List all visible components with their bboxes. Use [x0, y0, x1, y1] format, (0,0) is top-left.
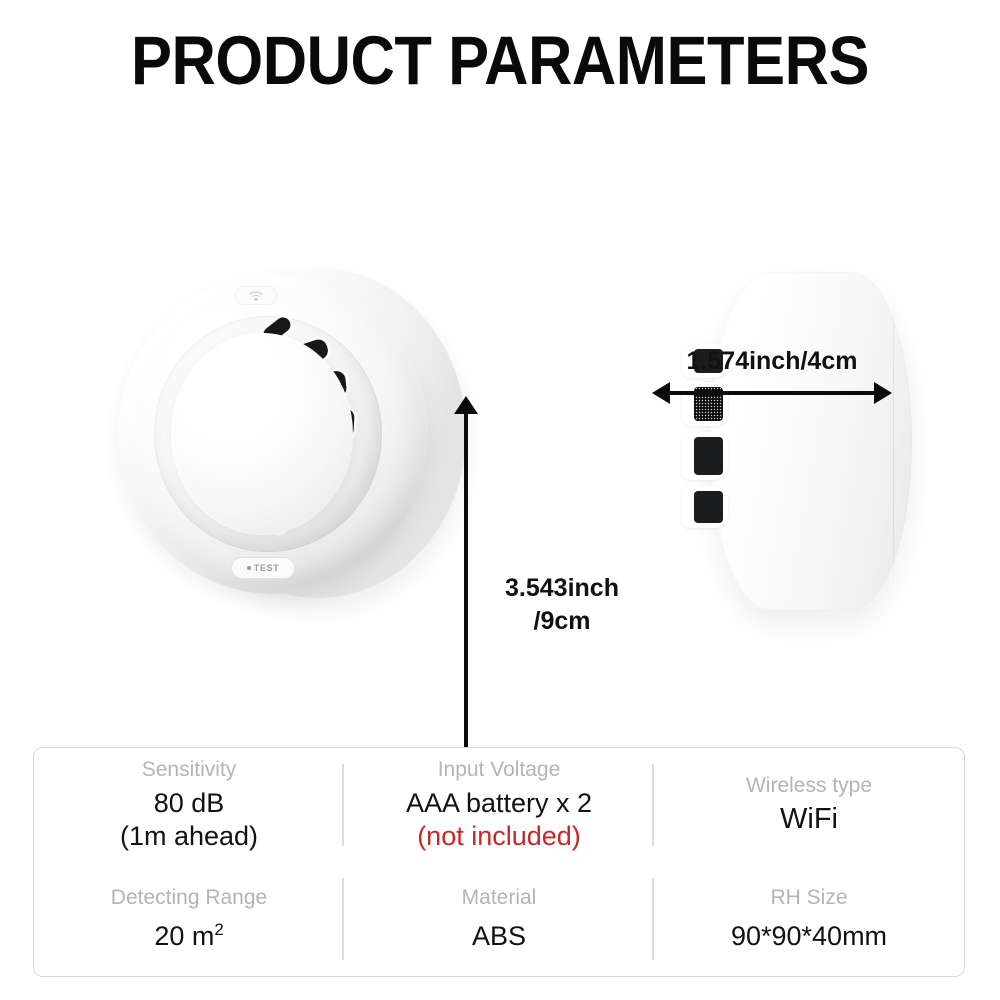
- vent-opening: [694, 491, 723, 523]
- detector-front-face: TEST: [118, 274, 428, 594]
- spec-cell-material: Material ABS: [344, 862, 654, 976]
- specifications-grid: Sensitivity 80 dB (1m ahead) Input Volta…: [34, 748, 964, 976]
- signal-indicator-icon: [235, 286, 277, 305]
- vent-slot-mesh: [682, 382, 728, 426]
- spec-label: Wireless type: [746, 773, 872, 798]
- spec-value: 80 dB (1m ahead): [120, 787, 258, 853]
- spec-value-superscript: 2: [214, 920, 223, 939]
- test-button-indicator-dot: [247, 566, 251, 570]
- spec-value: WiFi: [780, 802, 838, 837]
- spec-cell-sensitivity: Sensitivity 80 dB (1m ahead): [34, 748, 344, 862]
- page-title: PRODUCT PARAMETERS: [55, 26, 945, 95]
- spec-label: Input Voltage: [438, 757, 561, 782]
- spec-cell-detecting-range: Detecting Range 20 m2: [34, 862, 344, 976]
- height-dimension-label: 3.543inch /9cm: [482, 572, 642, 638]
- spec-value-number: 20 m: [154, 921, 214, 951]
- spec-value-note-not-included: (not included): [406, 820, 592, 853]
- spec-value: AAA battery x 2 (not included): [406, 787, 592, 853]
- detector-vent-ring: [154, 316, 382, 552]
- detector-side-seam: [893, 278, 894, 604]
- spec-label: RH Size: [770, 885, 847, 910]
- width-dimension-label: 1.574inch/4cm: [632, 346, 912, 376]
- vent-opening: [694, 437, 723, 475]
- product-image-stage: TEST: [0, 150, 1000, 710]
- spec-value: 20 m2: [154, 920, 223, 953]
- spec-label: Material: [462, 885, 537, 910]
- smoke-detector-side-view: [672, 272, 912, 612]
- height-value-inch: 3.543inch: [482, 572, 642, 605]
- specifications-panel: Sensitivity 80 dB (1m ahead) Input Volta…: [33, 747, 965, 977]
- spec-cell-rh-size: RH Size 90*90*40mm: [654, 862, 964, 976]
- height-value-cm: /9cm: [482, 605, 642, 638]
- spec-cell-wireless-type: Wireless type WiFi: [654, 748, 964, 862]
- width-arrow-right: [874, 382, 892, 404]
- product-parameters-page: PRODUCT PARAMETERS: [0, 0, 1000, 1000]
- spec-label: Sensitivity: [142, 757, 237, 782]
- vent-slot: [682, 486, 728, 528]
- spec-value-line2: (1m ahead): [120, 821, 258, 851]
- spec-value-line1: 80 dB: [154, 788, 225, 818]
- spec-value-line1: AAA battery x 2: [406, 788, 592, 818]
- spec-label: Detecting Range: [111, 885, 267, 910]
- height-dimension-line: [464, 408, 468, 785]
- test-button-label: TEST: [254, 564, 279, 573]
- spec-value: ABS: [472, 920, 526, 953]
- width-dimension-line: [664, 391, 882, 395]
- test-button[interactable]: TEST: [231, 557, 295, 579]
- spec-cell-input-voltage: Input Voltage AAA battery x 2 (not inclu…: [344, 748, 654, 862]
- detector-center-cap: [171, 333, 353, 535]
- vent-slot: [682, 432, 728, 480]
- detector-side-body: [710, 272, 912, 610]
- spec-value: 90*90*40mm: [731, 920, 887, 953]
- smoke-detector-angled-view: TEST: [118, 260, 468, 605]
